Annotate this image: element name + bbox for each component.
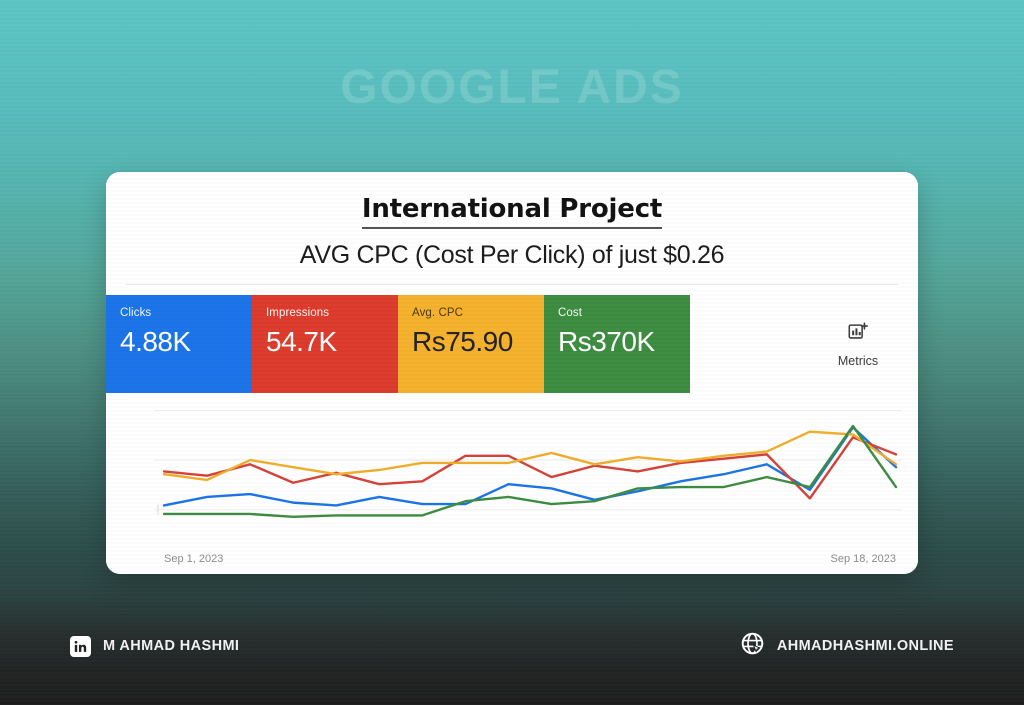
metric-value: Rs75.90 xyxy=(412,326,544,358)
chart-series-impressions xyxy=(164,437,896,498)
linkedin-icon xyxy=(70,636,91,657)
dashboard-card: International Project AVG CPC (Cost Per … xyxy=(106,172,918,574)
watermark-heading: GOOGLE ADS xyxy=(0,60,1024,115)
poster-canvas: GOOGLE ADS International Project AVG CPC… xyxy=(0,0,1024,705)
page-title: International Project xyxy=(362,194,662,229)
metrics-row: Clicks 4.88K Impressions 54.7K Avg. CPC … xyxy=(106,295,918,393)
add-chart-icon xyxy=(847,321,869,348)
footer-linkedin-label: M AHMAD HASHMI xyxy=(103,638,239,654)
metric-label: Avg. CPC xyxy=(412,307,544,319)
chart-area[interactable]: Sep 1, 2023 Sep 18, 2023 xyxy=(106,393,918,574)
card-header: International Project AVG CPC (Cost Per … xyxy=(106,172,918,295)
footer-linkedin[interactable]: M AHMAD HASHMI xyxy=(70,636,239,657)
globe-icon xyxy=(740,631,765,661)
metric-tile-impressions[interactable]: Impressions 54.7K xyxy=(252,295,398,393)
metric-label: Clicks xyxy=(120,307,252,319)
axis-label-end: Sep 18, 2023 xyxy=(831,553,896,565)
page-subtitle: AVG CPC (Cost Per Click) of just $0.26 xyxy=(126,241,898,270)
metric-value: 4.88K xyxy=(120,326,252,358)
metrics-button[interactable]: Metrics xyxy=(798,295,918,393)
metrics-button-label: Metrics xyxy=(838,354,878,368)
axis-label-start: Sep 1, 2023 xyxy=(164,553,223,565)
metric-tile-avg-cpc[interactable]: Avg. CPC Rs75.90 xyxy=(398,295,544,393)
metric-label: Impressions xyxy=(266,307,398,319)
metric-label: Cost xyxy=(558,307,690,319)
metrics-spacer xyxy=(690,295,798,393)
header-divider xyxy=(126,284,898,285)
line-chart xyxy=(106,393,918,574)
metric-value: Rs370K xyxy=(558,326,690,358)
metric-value: 54.7K xyxy=(266,326,398,358)
footer-website-label: AHMADHASHMI.ONLINE xyxy=(777,638,954,654)
chart-series-cost xyxy=(164,426,896,517)
metric-tile-cost[interactable]: Cost Rs370K xyxy=(544,295,690,393)
metric-tile-clicks[interactable]: Clicks 4.88K xyxy=(106,295,252,393)
footer-website[interactable]: AHMADHASHMI.ONLINE xyxy=(740,631,954,661)
footer-bar: M AHMAD HASHMI AHMADHASHMI.ONLINE xyxy=(0,595,1024,705)
